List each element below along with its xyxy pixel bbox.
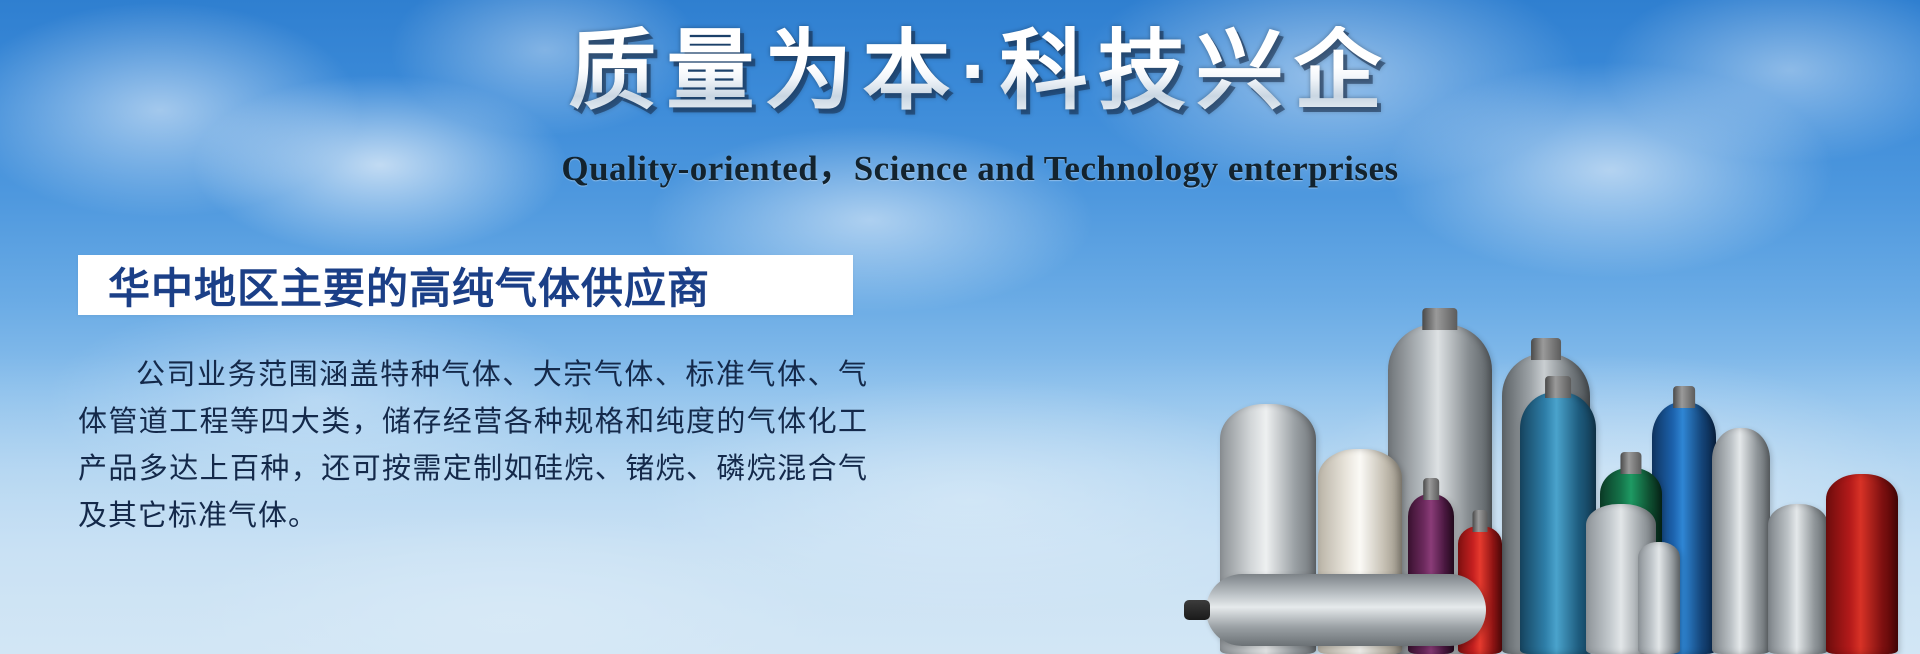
gas-cylinder-aluminium-medium [1768,504,1828,654]
banner-subtitle: Quality-oriented，Science and Technology … [0,140,1920,191]
gas-cylinder-aluminium-mini [1638,542,1680,654]
gas-cylinder-teal [1520,392,1596,654]
gas-cylinder-aluminium-tall [1712,428,1770,654]
body-paragraph: 公司业务范围涵盖特种气体、大宗气体、标准气体、气体管道工程等四大类，储存经营各种… [78,352,868,540]
headline-separator-dot: · [960,21,999,120]
headline-part-2: 科技兴企 [1000,21,1392,120]
gas-cylinder-red-large [1826,474,1898,654]
banner-body-copy: 公司业务范围涵盖特种气体、大宗气体、标准气体、气体管道工程等四大类，储存经营各种… [78,352,868,540]
banner-headline: 质量为本·科技兴企 [0,26,1920,116]
promo-banner: 质量为本·科技兴企 Quality-oriented，Science and T… [0,0,1920,654]
tagline-box: 华中地区主要的高纯气体供应商 [78,255,853,315]
gas-cylinder-group-image [1220,234,1920,654]
tagline-text: 华中地区主要的高纯气体供应商 [108,255,710,316]
headline-part-1: 质量为本 [568,21,960,120]
gas-cylinder-horizontal [1206,574,1486,646]
